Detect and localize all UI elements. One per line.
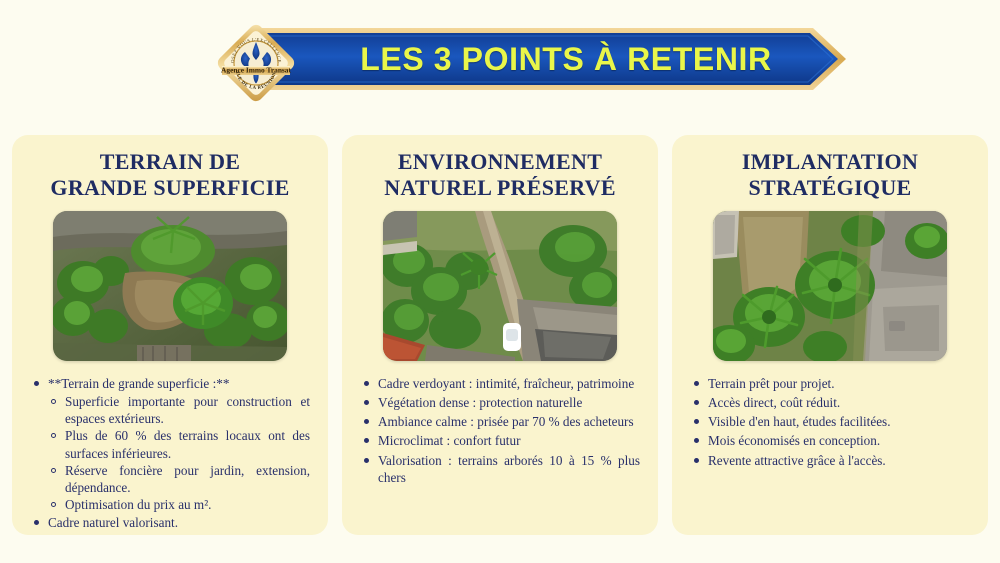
card-photo-aerial-land xyxy=(53,211,287,361)
sub-list-item: Optimisation du prix au m². xyxy=(48,496,310,513)
list-item: Microclimat : confort futur xyxy=(360,432,640,449)
card-bullets: Terrain prêt pour projet. Accès direct, … xyxy=(682,375,978,471)
sub-list-item: Superficie importante pour construction … xyxy=(48,393,310,427)
bullet-text: Ambiance calme : prisée par 70 % des ach… xyxy=(378,414,634,429)
list-item: Mois économisés en conception. xyxy=(690,432,970,449)
list-item: Revente attractive grâce à l'accès. xyxy=(690,452,970,469)
logo-name-text: Agence Immo Transat xyxy=(221,66,291,75)
bullet-text: Végétation dense : protection naturelle xyxy=(378,395,582,410)
list-item: **Terrain de grande superficie :** Super… xyxy=(30,375,310,513)
card-photo-aerial-access xyxy=(713,211,947,361)
bullet-text: Accès direct, coût réduit. xyxy=(708,395,840,410)
card-title: TERRAIN DE GRANDE SUPERFICIE xyxy=(50,149,289,201)
list-item: Cadre naturel valorisant. xyxy=(30,514,310,531)
point-card-implantation: IMPLANTATION STRATÉGIQUE xyxy=(672,135,988,535)
list-item: Accès direct, coût réduit. xyxy=(690,394,970,411)
list-item: Ambiance calme : prisée par 70 % des ach… xyxy=(360,413,640,430)
points-card-grid: TERRAIN DE GRANDE SUPERFICIE xyxy=(0,135,1000,535)
bullet-text: Terrain prêt pour projet. xyxy=(708,376,835,391)
sub-list-item: Réserve foncière pour jardin, extension,… xyxy=(48,462,310,496)
point-card-terrain: TERRAIN DE GRANDE SUPERFICIE xyxy=(12,135,328,535)
card-title: ENVIRONNEMENT NATUREL PRÉSERVÉ xyxy=(384,149,616,201)
bullet-text: Cadre verdoyant : intimité, fraîcheur, p… xyxy=(378,376,634,391)
card-bullets: Cadre verdoyant : intimité, fraîcheur, p… xyxy=(352,375,648,488)
list-item: Visible d'en haut, études facilitées. xyxy=(690,413,970,430)
bullet-text: Visible d'en haut, études facilitées. xyxy=(708,414,891,429)
card-title: IMPLANTATION STRATÉGIQUE xyxy=(742,149,918,201)
bullet-text: Microclimat : confort futur xyxy=(378,433,520,448)
company-logo: Agence Immo Transat OSEZ VOUS L'EXCELLEN… xyxy=(214,21,298,105)
card-photo-aerial-garden xyxy=(383,211,617,361)
white-car xyxy=(503,323,521,351)
list-item: Cadre verdoyant : intimité, fraîcheur, p… xyxy=(360,375,640,392)
sub-list-item: Plus de 60 % des terrains locaux ont des… xyxy=(48,427,310,461)
header-banner: LES 3 POINTS À RETENIR xyxy=(0,0,1000,120)
bullet-text: Valorisation : terrains arborés 10 à 15 … xyxy=(378,453,640,485)
point-card-environnement: ENVIRONNEMENT NATUREL PRÉSERVÉ xyxy=(342,135,658,535)
bullet-text: Mois économisés en conception. xyxy=(708,433,880,448)
list-item: Terrain prêt pour projet. xyxy=(690,375,970,392)
list-item: Végétation dense : protection naturelle xyxy=(360,394,640,411)
banner-arrow-shape xyxy=(262,28,846,90)
card-bullets: **Terrain de grande superficie :** Super… xyxy=(22,375,318,532)
bullet-text: **Terrain de grande superficie :** xyxy=(48,376,229,391)
list-item: Valorisation : terrains arborés 10 à 15 … xyxy=(360,452,640,486)
bullet-text: Revente attractive grâce à l'accès. xyxy=(708,453,886,468)
bullet-text: Cadre naturel valorisant. xyxy=(48,515,178,530)
